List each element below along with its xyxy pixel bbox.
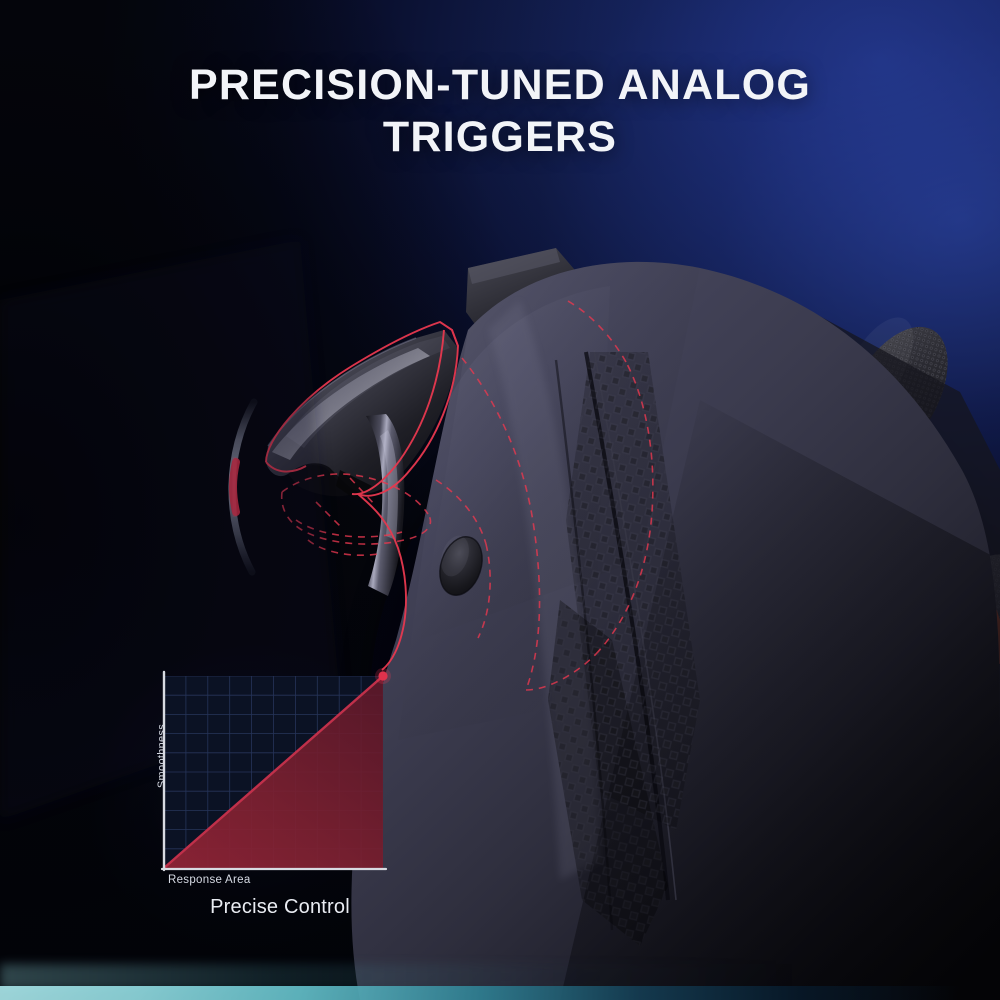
chart-x-axis-label: Response Area bbox=[168, 874, 251, 886]
chart-y-axis-label: Smoothness bbox=[156, 696, 168, 816]
chart-title: Precise Control bbox=[150, 896, 410, 919]
promo-image-canvas: PRECISION-TUNED ANALOG TRIGGERS bbox=[0, 0, 1000, 1000]
bottom-accent-bar bbox=[0, 986, 1000, 1000]
chart-svg bbox=[128, 662, 428, 932]
precise-control-chart: Smoothness Response Area Precise Control bbox=[128, 662, 428, 932]
